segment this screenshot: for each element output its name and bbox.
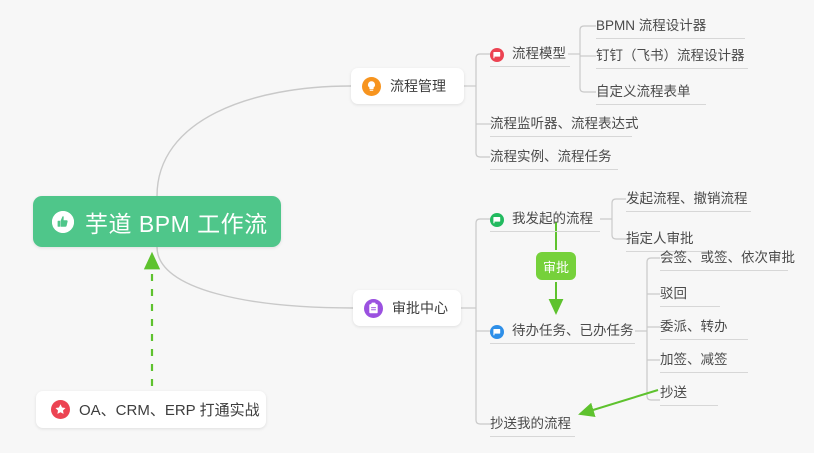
flag-icon [490,213,504,227]
leaf-node-cc-to-me[interactable]: 抄送我的流程 [490,412,575,437]
leaf-node-dingtalk-designer[interactable]: 钉钉（飞书）流程设计器 [596,44,748,69]
lightbulb-icon [362,77,381,96]
leaf-node-cc[interactable]: 抄送 [660,381,718,406]
leaf-label-add-remove-sign: 加签、减签 [660,351,728,369]
leaf-node-delegate-transfer[interactable]: 委派、转办 [660,315,748,340]
leaf-node-instance-task[interactable]: 流程实例、流程任务 [490,145,618,170]
leaf-node-custom-form[interactable]: 自定义流程表单 [596,80,706,105]
branch-node-approval-center[interactable]: 审批中心 [353,290,461,326]
branch-node-flow-management[interactable]: 流程管理 [351,68,464,104]
root-node[interactable]: 芋道 BPM 工作流 [33,196,281,247]
flag-icon [490,48,504,62]
leaf-label-reject: 驳回 [660,285,687,303]
leaf-node-multi-sign[interactable]: 会签、或签、依次审批 [660,246,788,271]
leaf-node-listener-expression[interactable]: 流程监听器、流程表达式 [490,112,632,137]
leaf-label-custom-form: 自定义流程表单 [596,83,691,101]
leaf-label-instance-task: 流程实例、流程任务 [490,148,612,166]
integration-note-node[interactable]: OA、CRM、ERP 打通实战 [36,391,266,428]
leaf-node-bpmn-designer[interactable]: BPMN 流程设计器 [596,14,745,39]
thumbs-up-icon [52,211,74,233]
flag-icon [490,325,504,339]
leaf-label-listener-expression: 流程监听器、流程表达式 [490,115,639,133]
leaf-label-my-initiated: 我发起的流程 [512,210,593,228]
leaf-label-flow-model: 流程模型 [512,45,566,63]
mindmap-canvas: 芋道 BPM 工作流 流程管理 流程模型 BPMN 流程设计器 钉钉（飞书）流程… [0,0,814,453]
leaf-node-reject[interactable]: 驳回 [660,282,720,307]
leaf-label-dingtalk-designer: 钉钉（飞书）流程设计器 [596,47,745,65]
leaf-node-todo-done-tasks[interactable]: 待办任务、已办任务 [490,319,635,344]
leaf-node-flow-model[interactable]: 流程模型 [490,42,570,67]
root-label: 芋道 BPM 工作流 [85,205,268,239]
branch-label-flow-management: 流程管理 [390,76,446,96]
approval-badge-label: 审批 [543,257,569,276]
leaf-node-my-initiated[interactable]: 我发起的流程 [490,207,600,232]
leaf-label-todo-done-tasks: 待办任务、已办任务 [512,322,634,340]
leaf-node-add-remove-sign[interactable]: 加签、减签 [660,348,748,373]
star-icon [51,400,70,419]
leaf-label-start-cancel-flow: 发起流程、撤销流程 [626,190,748,208]
clipboard-icon [364,299,383,318]
leaf-label-bpmn-designer: BPMN 流程设计器 [596,17,706,35]
integration-note-label: OA、CRM、ERP 打通实战 [79,399,260,420]
approval-badge[interactable]: 审批 [536,252,576,280]
branch-label-approval-center: 审批中心 [392,298,448,318]
leaf-label-multi-sign: 会签、或签、依次审批 [660,249,795,267]
leaf-label-cc-to-me: 抄送我的流程 [490,415,571,433]
leaf-node-start-cancel-flow[interactable]: 发起流程、撤销流程 [626,187,751,212]
leaf-label-delegate-transfer: 委派、转办 [660,318,728,336]
leaf-label-cc: 抄送 [660,384,687,402]
